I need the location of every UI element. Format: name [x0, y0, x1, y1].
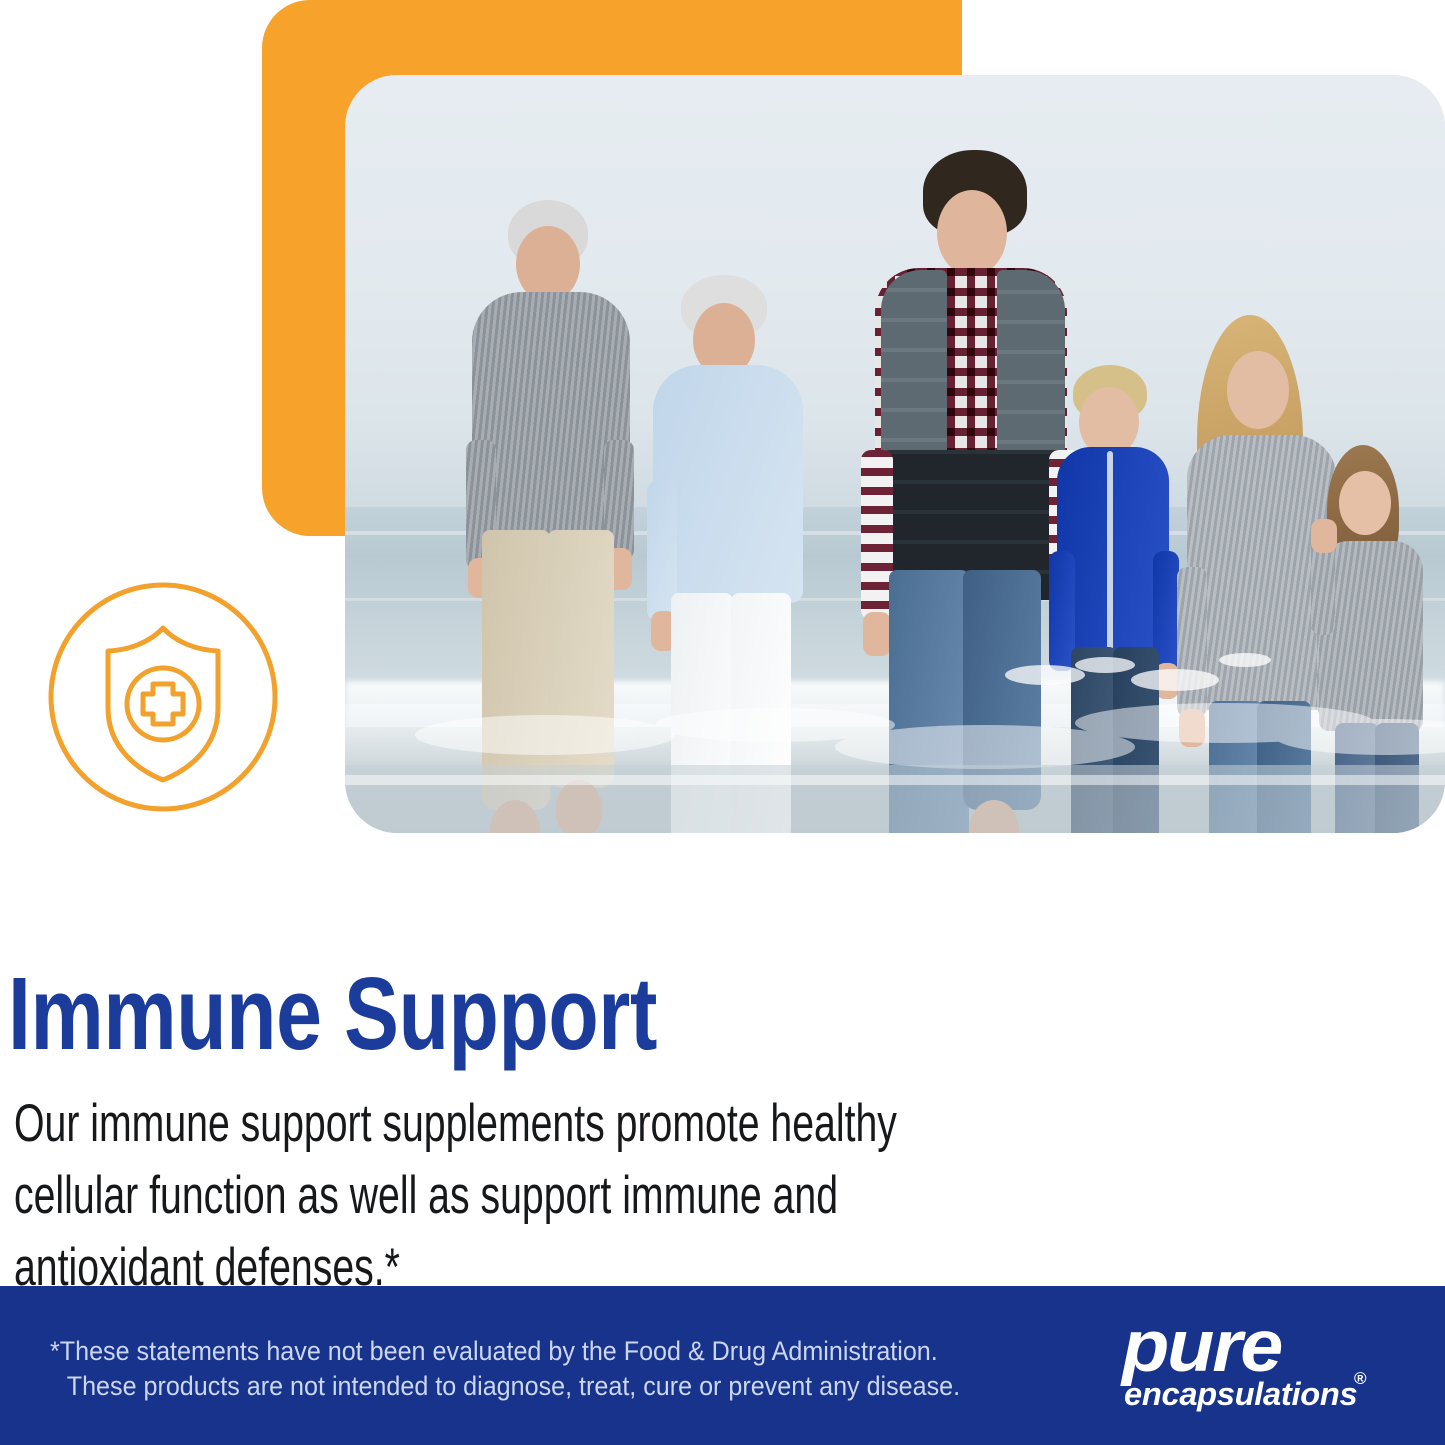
immune-protection-badge: [46, 580, 280, 814]
logo-secondary-wordmark: encapsulations: [1124, 1378, 1357, 1410]
page-title: Immune Support: [8, 962, 657, 1065]
logo-primary-wordmark: pure: [1122, 1310, 1281, 1383]
fda-disclaimer: *These statements have not been evaluate…: [50, 1334, 1147, 1404]
pure-encapsulations-logo: pure encapsulations ®: [1122, 1318, 1372, 1414]
disclaimer-line-2: These products are not intended to diagn…: [50, 1369, 1147, 1404]
lead-paragraph: Our immune support supplements promote h…: [14, 1088, 1272, 1304]
disclaimer-line-1: *These statements have not been evaluate…: [50, 1334, 1147, 1369]
lead-paragraph-line: Our immune support supplements promote h…: [14, 1088, 1272, 1160]
shield-with-medical-cross-icon: [46, 580, 280, 814]
hero-photo: [345, 75, 1445, 833]
lead-paragraph-line: cellular function as well as support imm…: [14, 1160, 1272, 1232]
registered-trademark-icon: ®: [1354, 1370, 1367, 1387]
photo-water-splash-overlay: [345, 75, 1445, 833]
